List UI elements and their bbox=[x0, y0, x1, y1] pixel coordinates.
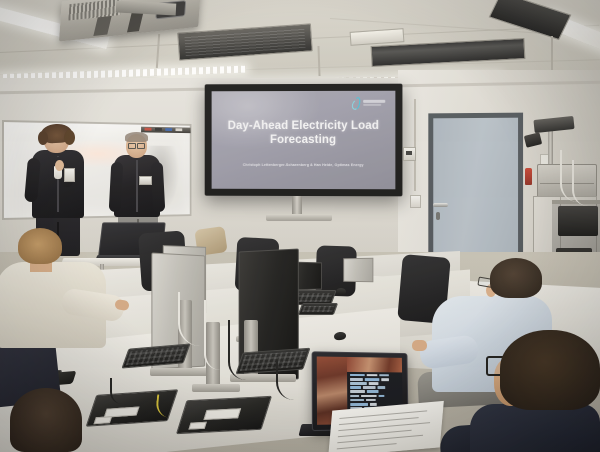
text-row bbox=[350, 399, 400, 402]
keyboard[interactable] bbox=[298, 303, 338, 315]
projector-vent bbox=[68, 0, 121, 20]
asset-label bbox=[188, 422, 206, 430]
keys bbox=[126, 347, 187, 366]
student-torso bbox=[470, 404, 600, 452]
text-row bbox=[350, 374, 400, 377]
cable bbox=[110, 378, 132, 404]
mouse[interactable] bbox=[336, 288, 346, 295]
logo-wave-icon bbox=[350, 97, 361, 108]
text-row bbox=[350, 390, 400, 393]
printed-handout-papers bbox=[328, 401, 444, 452]
text-cell bbox=[350, 399, 364, 402]
text-cell bbox=[380, 374, 389, 377]
wall-conduit bbox=[414, 99, 416, 191]
logo-word-line bbox=[363, 103, 381, 105]
ceiling-equipment-box bbox=[177, 23, 313, 60]
text-cell bbox=[379, 395, 385, 398]
ceiling-vent-icon bbox=[489, 0, 572, 40]
student-hair bbox=[18, 228, 62, 264]
text-cell bbox=[369, 382, 379, 385]
text-cell bbox=[363, 386, 376, 389]
marker-tray bbox=[141, 127, 191, 133]
presenter-hair bbox=[125, 132, 148, 142]
cable bbox=[204, 300, 222, 370]
text-cell bbox=[350, 390, 365, 393]
presentation-slide: Day-Ahead Electricity Load Forecasting C… bbox=[212, 91, 396, 190]
text-cell bbox=[367, 374, 378, 377]
logo-wordmark bbox=[363, 99, 385, 105]
door-handle-icon[interactable] bbox=[433, 203, 448, 207]
slide-subtitle: Christoph Lettenberger-Scharenberg & Han… bbox=[220, 163, 388, 168]
presenter-hand bbox=[55, 160, 64, 171]
text-row bbox=[350, 378, 400, 381]
glasses-icon bbox=[128, 143, 145, 147]
keys bbox=[302, 306, 334, 312]
motion-sensor-icon bbox=[403, 147, 416, 161]
text-cell bbox=[367, 390, 379, 393]
asset-label bbox=[93, 416, 112, 424]
text-row bbox=[350, 386, 400, 389]
marker-icon bbox=[145, 128, 152, 131]
av-equipment bbox=[558, 206, 598, 236]
marker-icon bbox=[175, 128, 182, 131]
text-cell bbox=[350, 395, 359, 398]
marker-icon bbox=[165, 128, 172, 131]
student-hand bbox=[412, 340, 427, 351]
projector-bracket bbox=[93, 16, 111, 36]
slide-title-line-1: Day-Ahead Electricity Load bbox=[220, 119, 388, 133]
monitor-base bbox=[192, 384, 240, 392]
text-cell bbox=[365, 378, 380, 381]
display-base bbox=[266, 214, 332, 221]
presenter-arm bbox=[151, 162, 166, 213]
text-cell bbox=[370, 403, 377, 406]
ceiling-rod bbox=[317, 46, 320, 76]
text-cell bbox=[350, 382, 367, 385]
slide-title-line-2: Forecasting bbox=[220, 133, 388, 147]
text-cell bbox=[350, 374, 365, 377]
student-hair bbox=[500, 330, 600, 410]
text-cell bbox=[350, 386, 361, 389]
presenter-hair bbox=[38, 131, 48, 145]
asset-label bbox=[203, 408, 241, 420]
thin-client-pc bbox=[176, 396, 272, 434]
ceiling-panel bbox=[350, 28, 405, 46]
marker-icon bbox=[155, 128, 162, 131]
student-left-lower-head bbox=[10, 388, 82, 452]
slide-title: Day-Ahead Electricity Load Forecasting bbox=[220, 119, 388, 147]
ceiling-rod bbox=[156, 34, 160, 68]
paper-text-line bbox=[337, 443, 397, 449]
text-cell bbox=[378, 386, 386, 389]
presenter-hair bbox=[64, 130, 75, 145]
cable bbox=[228, 320, 248, 380]
logo-word-line bbox=[363, 99, 385, 102]
text-cell bbox=[350, 403, 368, 406]
fire-extinguisher-icon bbox=[525, 168, 532, 185]
classroom-photo-scene: Day-Ahead Electricity Load Forecasting C… bbox=[0, 0, 600, 452]
light-switch[interactable] bbox=[410, 195, 421, 208]
vent-grill bbox=[184, 28, 305, 56]
door-lock-icon bbox=[436, 212, 440, 220]
presentation-display[interactable]: Day-Ahead Electricity Load Forecasting C… bbox=[205, 84, 403, 197]
text-row bbox=[350, 382, 400, 385]
screen-image-strip bbox=[346, 357, 402, 372]
cable bbox=[572, 160, 588, 206]
text-cell bbox=[366, 399, 376, 402]
cable bbox=[276, 360, 304, 400]
text-cell bbox=[382, 378, 389, 381]
text-cell bbox=[350, 378, 363, 381]
name-badge bbox=[139, 176, 152, 185]
jacket-zip bbox=[136, 160, 138, 212]
monitor-base bbox=[150, 368, 212, 376]
optimas-energy-logo bbox=[350, 97, 385, 108]
monitor-rear bbox=[343, 258, 373, 283]
text-cell bbox=[361, 395, 377, 398]
name-badge bbox=[64, 168, 75, 182]
text-row bbox=[350, 395, 400, 398]
student-hair bbox=[490, 258, 542, 298]
